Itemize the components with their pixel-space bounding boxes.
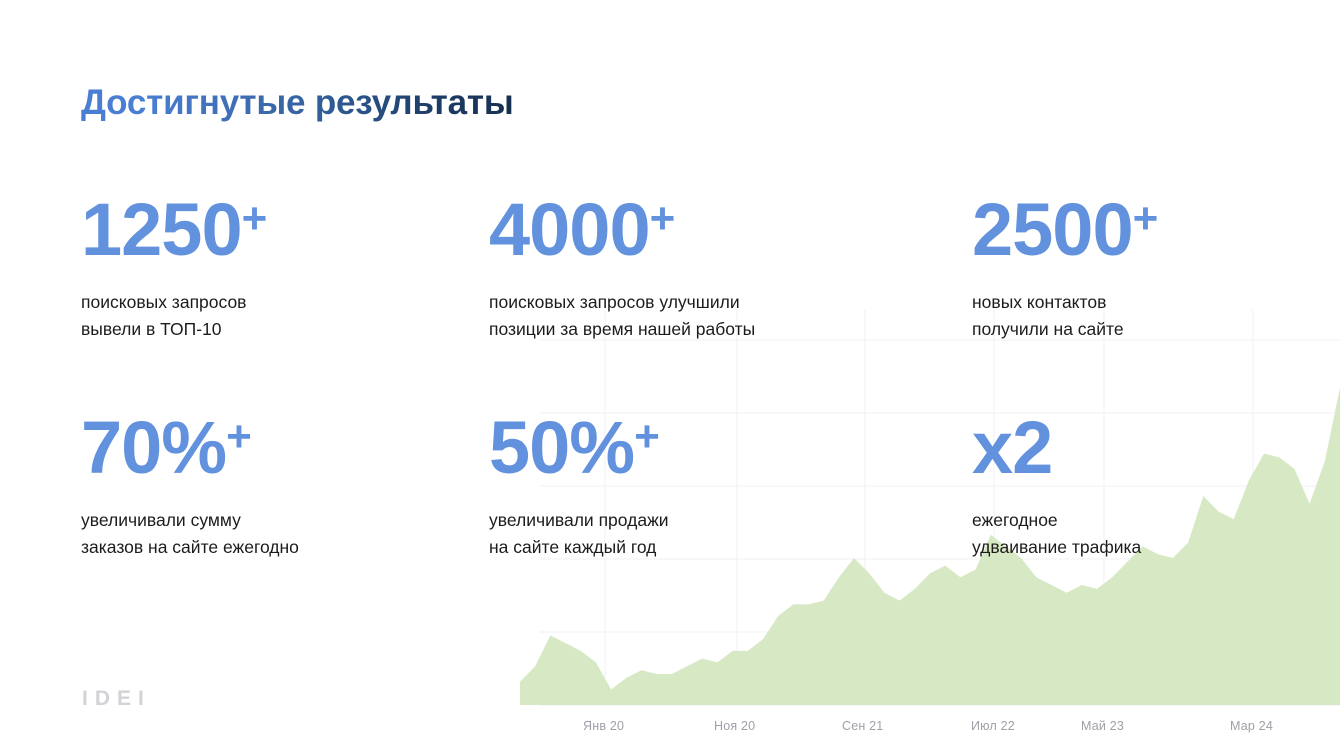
- stat-value-2: 4000+: [489, 193, 755, 267]
- stat-block-1: 1250+ поисковых запросов вывели в ТОП-10: [81, 193, 267, 343]
- page-title: Достигнутые результаты: [81, 83, 514, 123]
- stat-suffix-2: +: [650, 194, 676, 243]
- stat-suffix-5: +: [634, 412, 660, 461]
- stat-block-5: 50%+ увеличивали продажи на сайте каждый…: [489, 411, 669, 561]
- stat-block-3: 2500+ новых контактов получили на сайте: [972, 193, 1158, 343]
- stat-value-3: 2500+: [972, 193, 1158, 267]
- stat-block-2: 4000+ поисковых запросов улучшили позици…: [489, 193, 755, 343]
- stat-number-5: 50%: [489, 406, 634, 489]
- stat-value-1: 1250+: [81, 193, 267, 267]
- stat-number-6: x2: [972, 406, 1052, 489]
- stat-description-5: увеличивали продажи на сайте каждый год: [489, 507, 669, 561]
- stat-suffix-4: +: [226, 412, 252, 461]
- stat-description-3: новых контактов получили на сайте: [972, 289, 1158, 343]
- stat-value-4: 70%+: [81, 411, 299, 485]
- stat-suffix-1: +: [242, 194, 268, 243]
- stat-block-4: 70%+ увеличивали сумму заказов на сайте …: [81, 411, 299, 561]
- stat-number-3: 2500: [972, 188, 1133, 271]
- stat-number-2: 4000: [489, 188, 650, 271]
- stat-block-6: x2 ежегодное удваивание трафика: [972, 411, 1141, 561]
- stat-suffix-3: +: [1133, 194, 1159, 243]
- slide-content: Достигнутые результаты 1250+ поисковых з…: [0, 0, 1340, 754]
- stat-value-5: 50%+: [489, 411, 669, 485]
- stat-description-6: ежегодное удваивание трафика: [972, 507, 1141, 561]
- stat-description-1: поисковых запросов вывели в ТОП-10: [81, 289, 267, 343]
- stat-description-4: увеличивали сумму заказов на сайте ежего…: [81, 507, 299, 561]
- stat-value-6: x2: [972, 411, 1141, 485]
- stat-description-2: поисковых запросов улучшили позиции за в…: [489, 289, 755, 343]
- brand-logo: IDEI: [82, 687, 151, 711]
- stat-number-4: 70%: [81, 406, 226, 489]
- stat-number-1: 1250: [81, 188, 242, 271]
